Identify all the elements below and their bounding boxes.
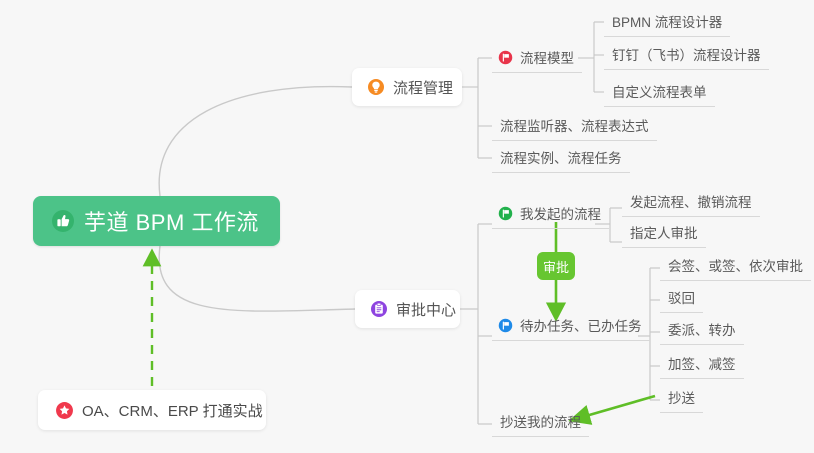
star-circle-red-icon	[55, 401, 74, 420]
leaf-label-dingtalk-designer: 钉钉（飞书）流程设计器	[612, 44, 761, 64]
flag-circle-red-icon	[498, 50, 513, 65]
leaf-label-chaosong: 抄送	[668, 387, 695, 407]
footnote-label-oa-crm-erp: OA、CRM、ERP 打通实战	[82, 400, 263, 421]
leaf-node-daiban-yiban[interactable]: 待办任务、已办任务	[492, 312, 650, 341]
annotation-badge-shenpi: 审批	[537, 252, 575, 280]
annotation-badge-shenpi-label: 审批	[543, 257, 569, 276]
leaf-node-dingtalk-designer[interactable]: 钉钉（飞书）流程设计器	[604, 41, 769, 70]
leaf-label-custom-form: 自定义流程表单	[612, 81, 707, 101]
leaf-node-bohui[interactable]: 驳回	[660, 284, 703, 313]
leaf-node-weipai-zhuanban[interactable]: 委派、转办	[660, 316, 744, 345]
leaf-node-faqi-chexiao[interactable]: 发起流程、撤销流程	[622, 188, 760, 217]
link-root-to-shenpizhongxin	[159, 246, 355, 311]
mindmap-canvas: 芋道 BPM 工作流 流程管理 流程模型 BPMN 流程设计器 钉钉（飞书	[0, 0, 814, 453]
branch-node-liuchengguanli[interactable]: 流程管理	[352, 68, 462, 106]
lightbulb-circle-icon	[367, 78, 385, 96]
root-label: 芋道 BPM 工作流	[84, 205, 259, 237]
leaf-node-chaosong-wode-liucheng[interactable]: 抄送我的流程	[492, 408, 589, 437]
leaf-label-chaosong-wode-liucheng: 抄送我的流程	[500, 411, 581, 431]
leaf-label-instance-task: 流程实例、流程任务	[500, 147, 622, 167]
leaf-label-jiaqian-jianqian: 加签、减签	[668, 353, 736, 373]
leaf-label-huiqian-huoqian: 会签、或签、依次审批	[668, 255, 803, 275]
leaf-node-jiaqian-jianqian[interactable]: 加签、减签	[660, 350, 744, 379]
leaf-node-custom-form[interactable]: 自定义流程表单	[604, 78, 715, 107]
clipboard-circle-purple-icon	[370, 300, 388, 318]
leaf-label-liuchengmoxing: 流程模型	[520, 47, 574, 67]
footnote-node-oa-crm-erp[interactable]: OA、CRM、ERP 打通实战	[38, 390, 266, 430]
link-root-to-liuchengguanli	[159, 87, 352, 196]
flag-circle-blue-icon	[498, 318, 513, 333]
leaf-node-zhidingren-shenpi[interactable]: 指定人审批	[622, 219, 706, 248]
branch-node-shenpizhongxin[interactable]: 审批中心	[355, 290, 460, 328]
leaf-label-weipai-zhuanban: 委派、转办	[668, 319, 736, 339]
leaf-node-liuchengmoxing[interactable]: 流程模型	[492, 44, 582, 73]
leaf-label-daiban-yiban: 待办任务、已办任务	[520, 315, 642, 335]
leaf-label-bohui: 驳回	[668, 287, 695, 307]
flag-circle-green-icon	[498, 206, 513, 221]
leaf-node-listener-expression[interactable]: 流程监听器、流程表达式	[492, 112, 657, 141]
leaf-label-faqi-chexiao: 发起流程、撤销流程	[630, 191, 752, 211]
leaf-label-listener-expression: 流程监听器、流程表达式	[500, 115, 649, 135]
leaf-node-chaosong[interactable]: 抄送	[660, 384, 703, 413]
root-node[interactable]: 芋道 BPM 工作流	[33, 196, 280, 246]
thumbs-up-circle-icon	[51, 209, 75, 233]
leaf-label-wofaqi-liucheng: 我发起的流程	[520, 203, 601, 223]
leaf-label-bpmn-designer: BPMN 流程设计器	[612, 11, 722, 31]
branch-label-liuchengguanli: 流程管理	[393, 77, 453, 98]
leaf-node-instance-task[interactable]: 流程实例、流程任务	[492, 144, 630, 173]
branch-label-shenpizhongxin: 审批中心	[396, 299, 456, 320]
leaf-node-huiqian-huoqian[interactable]: 会签、或签、依次审批	[660, 252, 811, 281]
leaf-label-zhidingren-shenpi: 指定人审批	[630, 222, 698, 242]
leaf-node-bpmn-designer[interactable]: BPMN 流程设计器	[604, 8, 730, 37]
leaf-node-wofaqi-liucheng[interactable]: 我发起的流程	[492, 200, 609, 229]
